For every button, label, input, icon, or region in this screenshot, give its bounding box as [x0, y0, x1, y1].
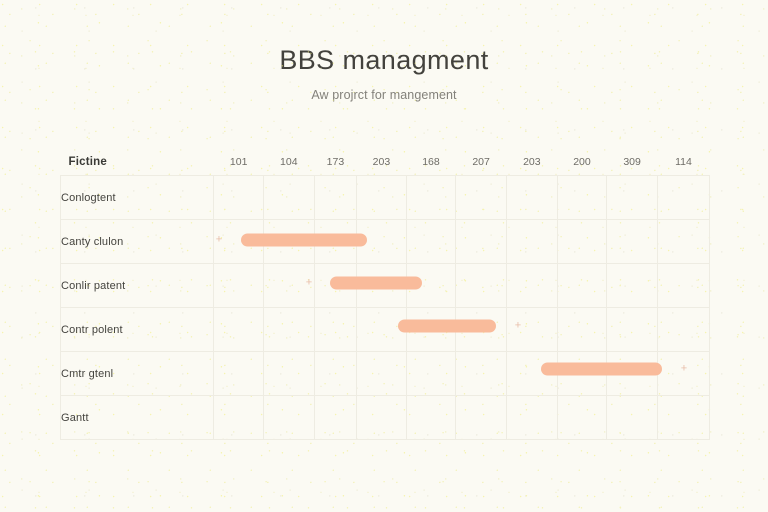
cell[interactable]	[557, 264, 607, 308]
cell[interactable]	[214, 264, 264, 308]
cell[interactable]	[214, 396, 264, 440]
cell[interactable]	[607, 308, 658, 352]
table-row[interactable]: Contr polent	[61, 308, 710, 352]
cell[interactable]	[263, 264, 314, 308]
cell[interactable]	[607, 352, 658, 396]
page-subtitle: Aw projrct for mangement	[0, 88, 768, 102]
cell[interactable]	[406, 220, 456, 264]
cell[interactable]	[263, 176, 314, 220]
cell[interactable]	[607, 220, 658, 264]
cell[interactable]	[557, 176, 607, 220]
cell[interactable]	[657, 396, 709, 440]
cell[interactable]	[214, 220, 264, 264]
cell[interactable]	[607, 264, 658, 308]
cell[interactable]	[607, 396, 658, 440]
row-label-5: Gantt	[61, 396, 214, 440]
row-label-2: Conlir patent	[61, 264, 214, 308]
cell[interactable]	[506, 308, 557, 352]
cell[interactable]	[657, 176, 709, 220]
cell[interactable]	[314, 352, 356, 396]
cell[interactable]	[314, 264, 356, 308]
cell[interactable]	[406, 396, 456, 440]
cell[interactable]	[657, 352, 709, 396]
cell[interactable]	[357, 176, 407, 220]
table-row[interactable]: Conlir patent	[61, 264, 710, 308]
page-title: BBS managment	[0, 46, 768, 76]
column-header-7: 200	[557, 148, 607, 176]
row-label-3: Contr polent	[61, 308, 214, 352]
gantt-table-header: Fictine 101 104 173 203 168 207 203 200 …	[61, 148, 710, 176]
page-root: BBS managment Aw projrct for mangement F…	[0, 0, 768, 512]
cell[interactable]	[456, 264, 507, 308]
cell[interactable]	[557, 396, 607, 440]
cell[interactable]	[557, 220, 607, 264]
table-row[interactable]: Cmtr gtenl	[61, 352, 710, 396]
cell[interactable]	[263, 220, 314, 264]
cell[interactable]	[506, 176, 557, 220]
cell[interactable]	[406, 352, 456, 396]
cell[interactable]	[456, 176, 507, 220]
cell[interactable]	[263, 396, 314, 440]
cell[interactable]	[314, 396, 356, 440]
column-header-8: 309	[607, 148, 658, 176]
table-row[interactable]: Gantt	[61, 396, 710, 440]
cell[interactable]	[406, 176, 456, 220]
cell[interactable]	[506, 396, 557, 440]
column-header-1: 104	[263, 148, 314, 176]
column-header-3: 203	[357, 148, 407, 176]
cell[interactable]	[214, 176, 264, 220]
cell[interactable]	[314, 220, 356, 264]
cell[interactable]	[263, 352, 314, 396]
cell[interactable]	[657, 308, 709, 352]
row-label-1: Canty clulon	[61, 220, 214, 264]
cell[interactable]	[357, 264, 407, 308]
cell[interactable]	[657, 220, 709, 264]
gantt-table-body: Conlogtent Canty clulon Conlir pat	[61, 176, 710, 440]
cell[interactable]	[456, 352, 507, 396]
row-label-4: Cmtr gtenl	[61, 352, 214, 396]
column-header-6: 203	[506, 148, 557, 176]
cell[interactable]	[314, 308, 356, 352]
cell[interactable]	[557, 352, 607, 396]
cell[interactable]	[456, 220, 507, 264]
header-row: Fictine 101 104 173 203 168 207 203 200 …	[61, 148, 710, 176]
cell[interactable]	[456, 308, 507, 352]
column-header-4: 168	[406, 148, 456, 176]
cell[interactable]	[607, 176, 658, 220]
cell[interactable]	[357, 396, 407, 440]
cell[interactable]	[214, 352, 264, 396]
cell[interactable]	[263, 308, 314, 352]
cell[interactable]	[406, 308, 456, 352]
row-label-0: Conlogtent	[61, 176, 214, 220]
document-header: BBS managment Aw projrct for mangement	[0, 0, 768, 102]
gantt-table: Fictine 101 104 173 203 168 207 203 200 …	[60, 148, 710, 440]
cell[interactable]	[357, 308, 407, 352]
column-header-2: 173	[314, 148, 356, 176]
cell[interactable]	[657, 264, 709, 308]
table-row[interactable]: Canty clulon	[61, 220, 710, 264]
cell[interactable]	[357, 220, 407, 264]
column-header-5: 207	[456, 148, 507, 176]
column-header-0: 101	[214, 148, 264, 176]
cell[interactable]	[357, 352, 407, 396]
cell[interactable]	[506, 220, 557, 264]
cell[interactable]	[506, 352, 557, 396]
cell[interactable]	[506, 264, 557, 308]
cell[interactable]	[557, 308, 607, 352]
cell[interactable]	[314, 176, 356, 220]
column-header-9: 114	[657, 148, 709, 176]
cell[interactable]	[406, 264, 456, 308]
column-header-label: Fictine	[61, 148, 214, 176]
gantt-chart: Fictine 101 104 173 203 168 207 203 200 …	[60, 148, 710, 440]
table-row[interactable]: Conlogtent	[61, 176, 710, 220]
cell[interactable]	[456, 396, 507, 440]
cell[interactable]	[214, 308, 264, 352]
